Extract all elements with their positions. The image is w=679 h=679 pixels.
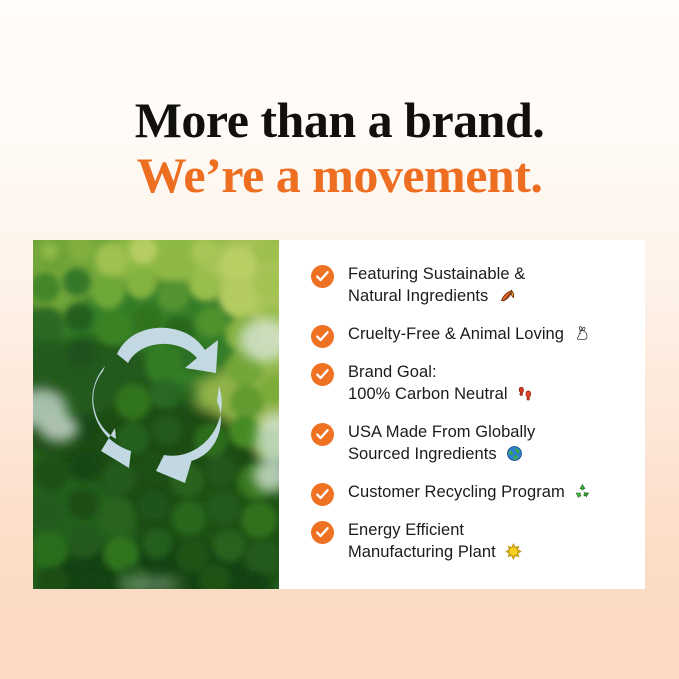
list-item-line-1: Featuring Sustainable & bbox=[348, 265, 525, 283]
rabbit-icon bbox=[574, 325, 591, 349]
list-item-label: Featuring Sustainable & Natural Ingredie… bbox=[348, 264, 525, 311]
benefits-card: Featuring Sustainable & Natural Ingredie… bbox=[33, 240, 645, 589]
headline-line-2: We’re a movement. bbox=[0, 151, 679, 200]
list-item-label: Customer Recycling Program bbox=[348, 482, 591, 507]
headline-line-1: More than a brand. bbox=[0, 96, 679, 145]
forest-canopy-image bbox=[33, 240, 279, 589]
list-item: Customer Recycling Program bbox=[311, 482, 629, 507]
list-item: Featuring Sustainable & Natural Ingredie… bbox=[311, 264, 629, 311]
check-circle-icon bbox=[311, 363, 334, 386]
forest-photo bbox=[33, 240, 279, 589]
benefits-list: Featuring Sustainable & Natural Ingredie… bbox=[279, 240, 645, 589]
list-item-line-2: Sourced Ingredients bbox=[348, 445, 497, 463]
list-item-line-2: 100% Carbon Neutral bbox=[348, 385, 508, 403]
list-item-label: USA Made From Globally Sourced Ingredien… bbox=[348, 422, 535, 469]
check-circle-icon bbox=[311, 483, 334, 506]
list-item: Cruelty-Free & Animal Loving bbox=[311, 324, 629, 349]
list-item-line-2: Natural Ingredients bbox=[348, 287, 488, 305]
footprints-icon bbox=[517, 385, 534, 409]
check-circle-icon bbox=[311, 325, 334, 348]
sun-icon bbox=[505, 543, 522, 567]
fallen-leaf-icon bbox=[498, 287, 515, 311]
list-item-line-2: Manufacturing Plant bbox=[348, 543, 496, 561]
list-item-line-1: Cruelty-Free & Animal Loving bbox=[348, 325, 564, 343]
check-circle-icon bbox=[311, 521, 334, 544]
list-item-line-1: USA Made From Globally bbox=[348, 423, 535, 441]
page-headline: More than a brand. We’re a movement. bbox=[0, 96, 679, 200]
list-item-line-1: Energy Efficient bbox=[348, 521, 464, 539]
check-circle-icon bbox=[311, 423, 334, 446]
list-item: Energy Efficient Manufacturing Plant bbox=[311, 520, 629, 567]
recycling-symbol-icon bbox=[574, 483, 591, 507]
list-item-label: Brand Goal: 100% Carbon Neutral bbox=[348, 362, 534, 409]
globe-icon bbox=[506, 445, 523, 469]
check-circle-icon bbox=[311, 265, 334, 288]
list-item: USA Made From Globally Sourced Ingredien… bbox=[311, 422, 629, 469]
list-item-line-1: Brand Goal: bbox=[348, 363, 437, 381]
list-item-line-1: Customer Recycling Program bbox=[348, 483, 565, 501]
list-item-label: Cruelty-Free & Animal Loving bbox=[348, 324, 591, 349]
list-item: Brand Goal: 100% Carbon Neutral bbox=[311, 362, 629, 409]
list-item-label: Energy Efficient Manufacturing Plant bbox=[348, 520, 522, 567]
